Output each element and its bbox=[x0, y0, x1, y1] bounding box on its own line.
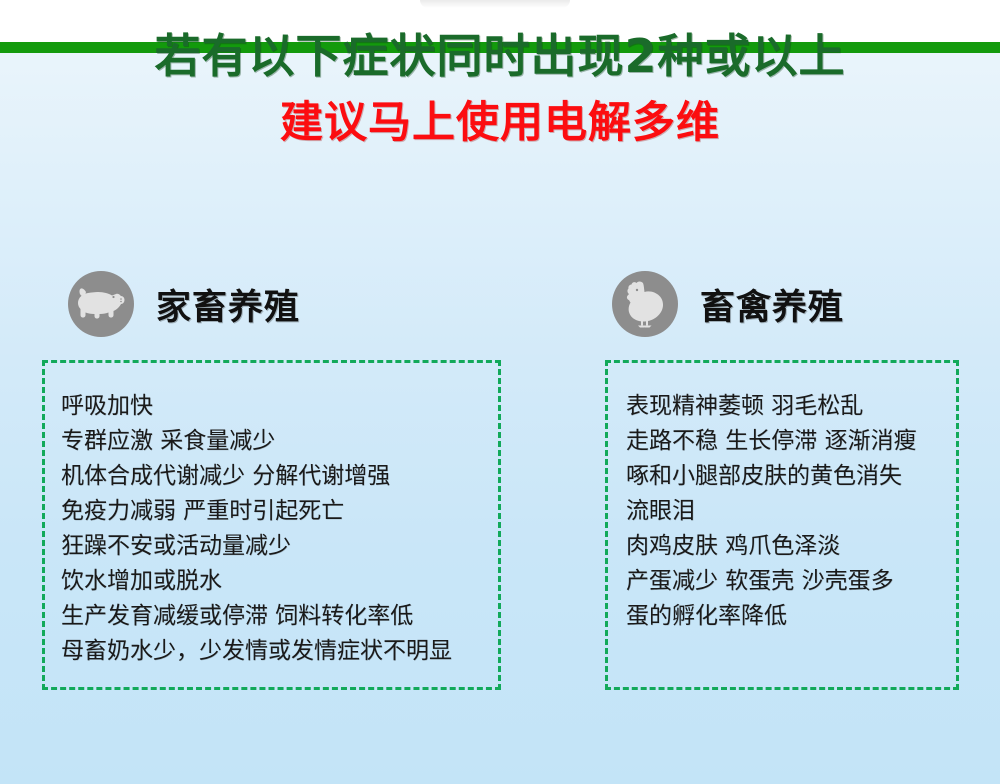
symptom-box-poultry: 表现精神萎顿 羽毛松乱 走路不稳 生长停滞 逐渐消瘦 啄和小腿部皮肤的黄色消失 … bbox=[605, 360, 959, 690]
list-item: 生产发育减缓或停滞 饲料转化率低 bbox=[61, 599, 498, 634]
list-item: 机体合成代谢减少 分解代谢增强 bbox=[61, 459, 498, 494]
list-item: 专群应激 采食量减少 bbox=[61, 424, 498, 459]
list-item: 肉鸡皮肤 鸡爪色泽淡 bbox=[626, 529, 956, 564]
symptom-box-livestock: 呼吸加快 专群应激 采食量减少 机体合成代谢减少 分解代谢增强 免疫力减弱 严重… bbox=[42, 360, 501, 690]
list-item: 表现精神萎顿 羽毛松乱 bbox=[626, 389, 956, 424]
list-item: 狂躁不安或活动量减少 bbox=[61, 529, 498, 564]
column-title-livestock: 家畜养殖 bbox=[156, 279, 300, 330]
symptom-list-poultry: 表现精神萎顿 羽毛松乱 走路不稳 生长停滞 逐渐消瘦 啄和小腿部皮肤的黄色消失 … bbox=[608, 363, 956, 634]
poster-title-block: 若有以下症状同时出现2种或以上 建议马上使用电解多维 bbox=[0, 26, 1000, 154]
list-item: 走路不稳 生长停滞 逐渐消瘦 bbox=[626, 424, 956, 459]
list-item: 母畜奶水少，少发情或发情症状不明显 bbox=[61, 634, 498, 669]
poster-root: 若有以下症状同时出现2种或以上 建议马上使用电解多维 家畜养殖 bbox=[0, 0, 1000, 784]
column-header-livestock: 家畜养殖 bbox=[68, 271, 300, 337]
list-item: 呼吸加快 bbox=[61, 389, 498, 424]
title-line-1: 若有以下症状同时出现2种或以上 bbox=[0, 26, 1000, 86]
column-title-poultry: 畜禽养殖 bbox=[700, 279, 844, 330]
list-item: 流眼泪 bbox=[626, 494, 956, 529]
pig-icon bbox=[68, 271, 134, 337]
list-item: 蛋的孵化率降低 bbox=[626, 599, 956, 634]
title-line-2: 建议马上使用电解多维 bbox=[0, 92, 1000, 154]
list-item: 产蛋减少 软蛋壳 沙壳蛋多 bbox=[626, 564, 956, 599]
symptom-list-livestock: 呼吸加快 专群应激 采食量减少 机体合成代谢减少 分解代谢增强 免疫力减弱 严重… bbox=[45, 363, 498, 669]
chicken-icon bbox=[612, 271, 678, 337]
column-header-poultry: 畜禽养殖 bbox=[612, 271, 844, 337]
list-item: 啄和小腿部皮肤的黄色消失 bbox=[626, 459, 956, 494]
list-item: 免疫力减弱 严重时引起死亡 bbox=[61, 494, 498, 529]
list-item: 饮水增加或脱水 bbox=[61, 564, 498, 599]
top-artifact bbox=[420, 0, 570, 8]
